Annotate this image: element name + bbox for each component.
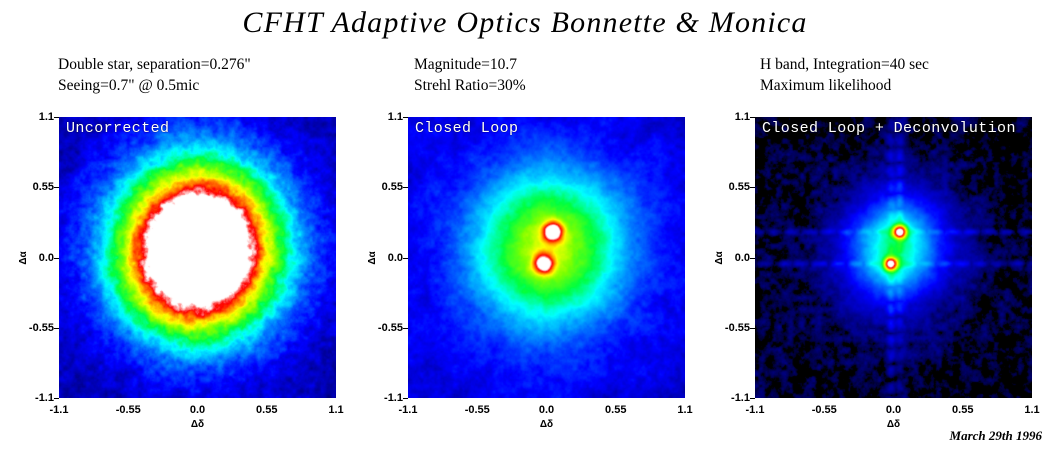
y-axis-tick-label: 0.0 xyxy=(39,252,54,264)
caption-middle-line1: Magnitude=10.7 xyxy=(414,54,526,75)
y-axis-tick-label: -1.1 xyxy=(384,392,403,404)
caption-left-line2: Seeing=0.7" @ 0.5mic xyxy=(58,75,251,96)
axis-label-y: Δα xyxy=(714,251,725,264)
figure-root: CFHT Adaptive Optics Bonnette & Monica D… xyxy=(0,0,1050,450)
y-axis-tick-label: 0.55 xyxy=(33,181,54,193)
axis-label-x: Δδ xyxy=(540,419,553,430)
axis-label-x: Δδ xyxy=(191,419,204,430)
caption-right-line2: Maximum likelihood xyxy=(760,75,929,96)
image-canvas-deconvolution xyxy=(755,117,1032,398)
x-axis-tick-label: 0.0 xyxy=(190,404,205,416)
y-axis-tick-label: 1.1 xyxy=(388,111,403,123)
panel-closed-loop-deconvolution: Closed Loop + Deconvolution Δα Δδ 1.10.5… xyxy=(755,117,1032,398)
x-axis-tick-label: 1.1 xyxy=(1024,404,1039,416)
panel-label-uncorrected: Uncorrected xyxy=(66,120,169,137)
y-axis-tick-label: 1.1 xyxy=(735,111,750,123)
caption-left-line1: Double star, separation=0.276" xyxy=(58,54,251,75)
x-axis-tick-label: 1.1 xyxy=(677,404,692,416)
y-axis-tick-label: 0.55 xyxy=(729,181,750,193)
y-axis-tick-mark xyxy=(403,187,408,188)
y-axis-tick-label: -1.1 xyxy=(731,392,750,404)
y-axis-tick-label: -1.1 xyxy=(35,392,54,404)
x-axis-tick-label: 0.55 xyxy=(605,404,626,416)
x-axis-tick-label: -0.55 xyxy=(465,404,490,416)
y-axis-tick-mark xyxy=(403,328,408,329)
panel-closed-loop: Closed Loop Δα Δδ 1.10.550.0-0.55-1.1-1.… xyxy=(408,117,685,398)
y-axis-tick-label: -0.55 xyxy=(29,322,54,334)
caption-middle: Magnitude=10.7 Strehl Ratio=30% xyxy=(414,54,526,96)
y-axis-tick-label: 0.55 xyxy=(382,181,403,193)
x-axis-tick-label: 0.55 xyxy=(952,404,973,416)
y-axis-tick-mark xyxy=(54,258,59,259)
y-axis-tick-mark xyxy=(750,258,755,259)
axis-label-y: Δα xyxy=(367,251,378,264)
y-axis-tick-mark xyxy=(403,117,408,118)
x-axis-tick-label: 0.0 xyxy=(539,404,554,416)
panel-label-deconvolution: Closed Loop + Deconvolution xyxy=(762,120,1016,137)
x-axis-tick-label: -0.55 xyxy=(116,404,141,416)
y-axis-tick-mark xyxy=(750,187,755,188)
y-axis-tick-mark xyxy=(403,258,408,259)
x-axis-tick-label: -0.55 xyxy=(812,404,837,416)
y-axis-tick-label: -0.55 xyxy=(725,322,750,334)
caption-right: H band, Integration=40 sec Maximum likel… xyxy=(760,54,929,96)
y-axis-tick-mark xyxy=(54,398,59,399)
x-axis-tick-label: -1.1 xyxy=(399,404,418,416)
x-axis-tick-label: -1.1 xyxy=(746,404,765,416)
panel-label-closed-loop: Closed Loop xyxy=(415,120,518,137)
panel-uncorrected: Uncorrected Δα Δδ 1.10.550.0-0.55-1.1-1.… xyxy=(59,117,336,398)
date-stamp: March 29th 1996 xyxy=(950,428,1042,444)
y-axis-tick-label: 0.0 xyxy=(735,252,750,264)
y-axis-tick-mark xyxy=(54,187,59,188)
y-axis-tick-mark xyxy=(750,398,755,399)
y-axis-tick-label: 0.0 xyxy=(388,252,403,264)
y-axis-tick-label: 1.1 xyxy=(39,111,54,123)
page-title: CFHT Adaptive Optics Bonnette & Monica xyxy=(0,6,1050,40)
axis-label-x: Δδ xyxy=(887,419,900,430)
y-axis-tick-mark xyxy=(54,328,59,329)
image-canvas-uncorrected xyxy=(59,117,336,398)
y-axis-tick-label: -0.55 xyxy=(378,322,403,334)
x-axis-tick-label: 0.55 xyxy=(256,404,277,416)
x-axis-tick-label: 0.0 xyxy=(886,404,901,416)
caption-middle-line2: Strehl Ratio=30% xyxy=(414,75,526,96)
y-axis-tick-mark xyxy=(750,117,755,118)
axis-label-y: Δα xyxy=(18,251,29,264)
caption-right-line1: H band, Integration=40 sec xyxy=(760,54,929,75)
x-axis-tick-label: -1.1 xyxy=(50,404,69,416)
y-axis-tick-mark xyxy=(750,328,755,329)
y-axis-tick-mark xyxy=(54,117,59,118)
x-axis-tick-label: 1.1 xyxy=(328,404,343,416)
caption-left: Double star, separation=0.276" Seeing=0.… xyxy=(58,54,251,96)
y-axis-tick-mark xyxy=(403,398,408,399)
image-canvas-closed-loop xyxy=(408,117,685,398)
